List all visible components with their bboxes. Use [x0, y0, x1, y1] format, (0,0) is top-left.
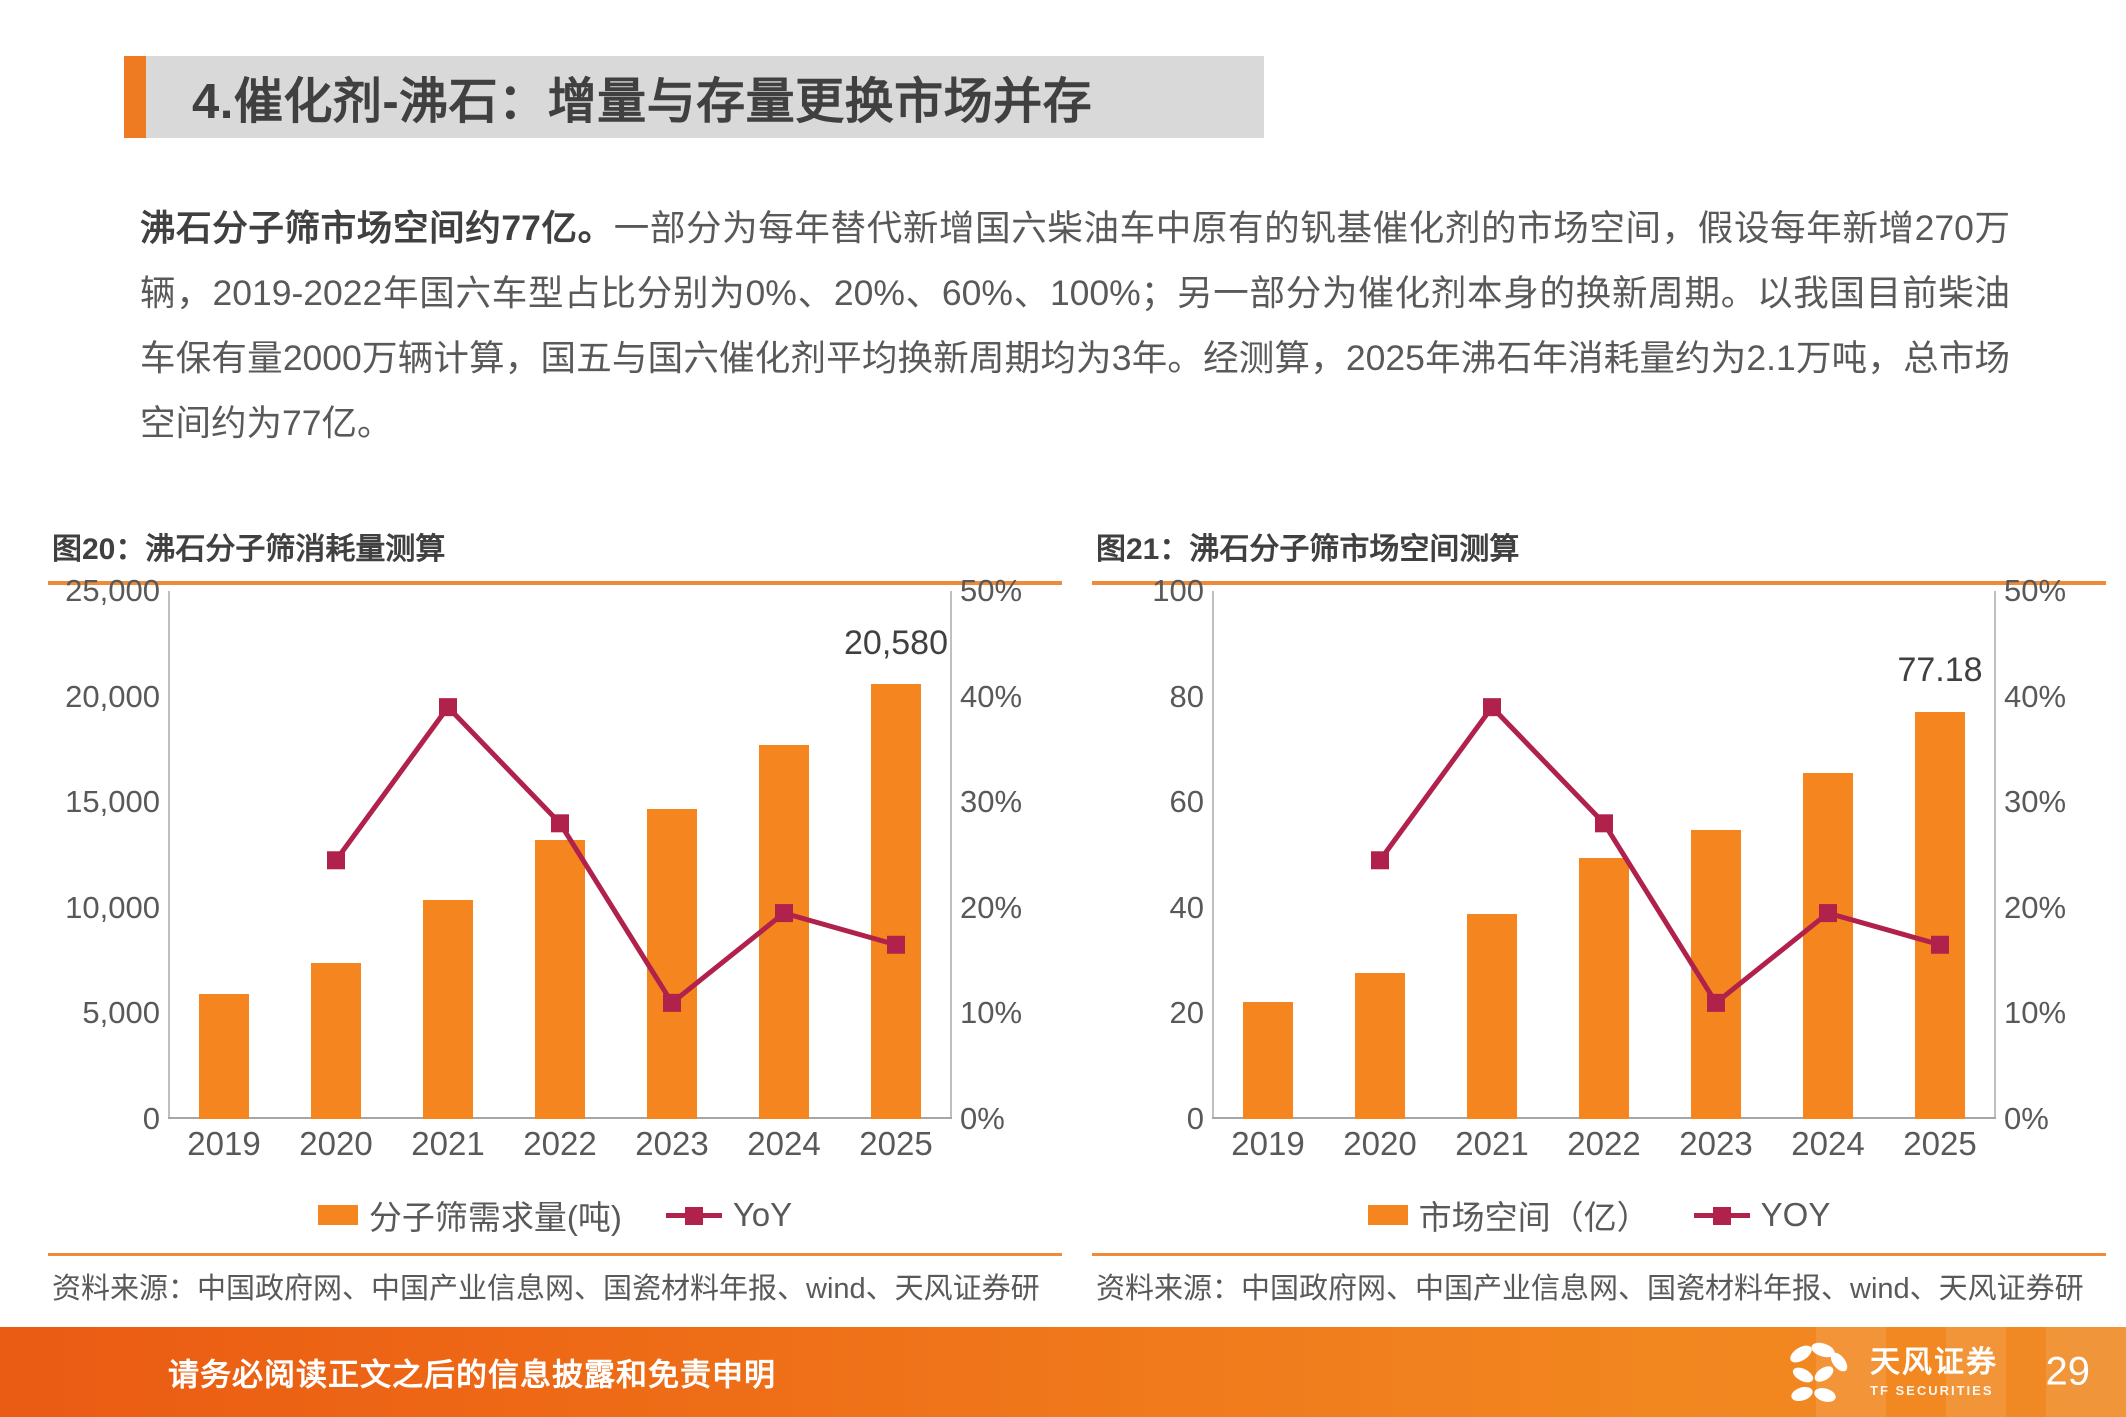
figure-panel-fig20: 图20：沸石分子筛消耗量测算 05,00010,00015,00020,0002…: [48, 524, 1062, 1119]
y-axis-left-fig20: 05,00010,00015,00020,00025,000: [48, 591, 160, 1119]
y-tick-right: 10%: [2004, 995, 2066, 1031]
y-axis-right-fig21: 0%10%20%30%40%50%: [2004, 591, 2106, 1119]
slide: 4.催化剂-沸石：增量与存量更换市场并存 沸石分子筛市场空间约77亿。一部分为每…: [0, 0, 2126, 1417]
x-tick-label: 2020: [280, 1125, 392, 1163]
x-tick-label: 2024: [728, 1125, 840, 1163]
line-marker[interactable]: [327, 851, 345, 869]
y-tick-left: 0: [143, 1101, 160, 1137]
brand-logo-text: 天风证券 TF SECURITIES: [1870, 1348, 1998, 1397]
legend-label-bar-fig20: 分子筛需求量(吨): [369, 1191, 622, 1239]
x-tick-label: 2021: [392, 1125, 504, 1163]
slide-title-row: 4.催化剂-沸石：增量与存量更换市场并存: [124, 56, 1264, 138]
legend-label-bar-fig21: 市场空间（亿）: [1419, 1191, 1650, 1239]
line-marker[interactable]: [1931, 936, 1949, 954]
figure-panel-fig21: 图21：沸石分子筛市场空间测算 020406080100 0%10%20%30%…: [1092, 524, 2106, 1119]
y-tick-left: 15,000: [65, 784, 160, 820]
legend-item-bar-fig20: 分子筛需求量(吨): [318, 1191, 622, 1239]
legend-swatch-icon: [318, 1205, 358, 1225]
y-axis-left-fig21: 020406080100: [1092, 591, 1204, 1119]
figure-rule-top-fig20: [48, 581, 1062, 585]
y-tick-right: 0%: [2004, 1101, 2049, 1137]
y-tick-left: 80: [1170, 679, 1204, 715]
footer-disclaimer: 请务必阅读正文之后的信息披露和免责申明: [168, 1350, 776, 1395]
legend-label-line-fig21: YOY: [1761, 1196, 1831, 1234]
y-tick-right: 40%: [2004, 679, 2066, 715]
line-marker[interactable]: [1371, 851, 1389, 869]
x-tick-label: 2019: [168, 1125, 280, 1163]
x-axis-labels-fig20: 2019202020212022202320242025: [168, 1125, 952, 1163]
legend-item-bar-fig21: 市场空间（亿）: [1368, 1191, 1650, 1239]
figure-rule-bottom-fig20: [48, 1253, 1062, 1256]
line-marker[interactable]: [1707, 994, 1725, 1012]
x-tick-label: 2022: [1548, 1125, 1660, 1163]
brand-logo: 天风证券 TF SECURITIES: [1782, 1337, 1998, 1407]
x-tick-label: 2023: [1660, 1125, 1772, 1163]
line-marker[interactable]: [775, 904, 793, 922]
y-axis-right-fig20: 0%10%20%30%40%50%: [960, 591, 1062, 1119]
page-footer: 请务必阅读正文之后的信息披露和免责申明 天风证券 TF SECURITIES 2…: [0, 1327, 2126, 1417]
tf-flower-icon: [1782, 1337, 1856, 1407]
line-marker[interactable]: [663, 994, 681, 1012]
plot-area-fig21: 77.18: [1212, 591, 1996, 1119]
legend-item-line-fig21: YOY: [1694, 1196, 1831, 1234]
x-tick-label: 2021: [1436, 1125, 1548, 1163]
body-lead: 沸石分子筛市场空间约77亿。: [140, 208, 614, 248]
figure-rule-top-fig21: [1092, 581, 2106, 585]
y-tick-left: 20: [1170, 995, 1204, 1031]
y-tick-right: 20%: [960, 890, 1022, 926]
line-path: [1380, 707, 1940, 1003]
body-paragraph: 沸石分子筛市场空间约77亿。一部分为每年替代新增国六柴油车中原有的钒基催化剂的市…: [140, 196, 2010, 456]
y-tick-left: 0: [1187, 1101, 1204, 1137]
y-tick-left: 5,000: [82, 995, 160, 1031]
figure-rule-bottom-fig21: [1092, 1253, 2106, 1256]
title-plate: 4.催化剂-沸石：增量与存量更换市场并存: [146, 56, 1264, 138]
x-tick-label: 2019: [1212, 1125, 1324, 1163]
line-marker[interactable]: [551, 814, 569, 832]
chart-fig20: 05,00010,00015,00020,00025,000 0%10%20%3…: [48, 591, 1062, 1119]
page-title: 4.催化剂-沸石：增量与存量更换市场并存: [192, 62, 1092, 133]
x-tick-label: 2024: [1772, 1125, 1884, 1163]
legend-swatch-icon: [1368, 1205, 1408, 1225]
y-tick-left: 20,000: [65, 679, 160, 715]
chart-fig21: 020406080100 0%10%20%30%40%50% 77.18 201…: [1092, 591, 2106, 1119]
y-tick-left: 25,000: [65, 573, 160, 609]
y-tick-left: 60: [1170, 784, 1204, 820]
legend-line-icon: [666, 1206, 722, 1224]
figure-title-fig20: 图20：沸石分子筛消耗量测算: [48, 524, 1062, 568]
y-tick-right: 50%: [960, 573, 1022, 609]
x-tick-label: 2020: [1324, 1125, 1436, 1163]
line-series-fig21: [1212, 591, 1996, 1119]
brand-name-en: TF SECURITIES: [1870, 1384, 1998, 1397]
line-marker[interactable]: [887, 936, 905, 954]
x-axis-labels-fig21: 2019202020212022202320242025: [1212, 1125, 1996, 1163]
brand-name-cn: 天风证券: [1870, 1348, 1998, 1378]
x-tick-label: 2025: [1884, 1125, 1996, 1163]
line-path: [336, 707, 896, 1003]
footer-divider: [0, 1313, 2126, 1327]
legend-line-icon: [1694, 1206, 1750, 1224]
line-marker[interactable]: [439, 698, 457, 716]
y-tick-right: 0%: [960, 1101, 1005, 1137]
bar-value-label: 77.18: [1897, 651, 1982, 690]
x-tick-label: 2023: [616, 1125, 728, 1163]
legend-fig21: 市场空间（亿） YOY: [1092, 1191, 2106, 1239]
y-tick-right: 30%: [2004, 784, 2066, 820]
y-tick-left: 10,000: [65, 890, 160, 926]
y-tick-right: 20%: [2004, 890, 2066, 926]
line-marker[interactable]: [1819, 904, 1837, 922]
line-marker[interactable]: [1483, 698, 1501, 716]
plot-area-fig20: 20,580: [168, 591, 952, 1119]
y-tick-left: 100: [1152, 573, 1204, 609]
legend-fig20: 分子筛需求量(吨) YoY: [48, 1191, 1062, 1239]
bar-value-label: 20,580: [844, 624, 948, 663]
x-tick-label: 2025: [840, 1125, 952, 1163]
title-accent-bar: [124, 56, 146, 138]
y-tick-right: 40%: [960, 679, 1022, 715]
legend-label-line-fig20: YoY: [733, 1196, 792, 1234]
figure-title-fig21: 图21：沸石分子筛市场空间测算: [1092, 524, 2106, 568]
x-tick-label: 2022: [504, 1125, 616, 1163]
y-tick-right: 30%: [960, 784, 1022, 820]
y-tick-left: 40: [1170, 890, 1204, 926]
page-number: 29: [2046, 1350, 2091, 1395]
line-series-fig20: [168, 591, 952, 1119]
legend-item-line-fig20: YoY: [666, 1196, 792, 1234]
y-tick-right: 10%: [960, 995, 1022, 1031]
line-marker[interactable]: [1595, 814, 1613, 832]
y-tick-right: 50%: [2004, 573, 2066, 609]
